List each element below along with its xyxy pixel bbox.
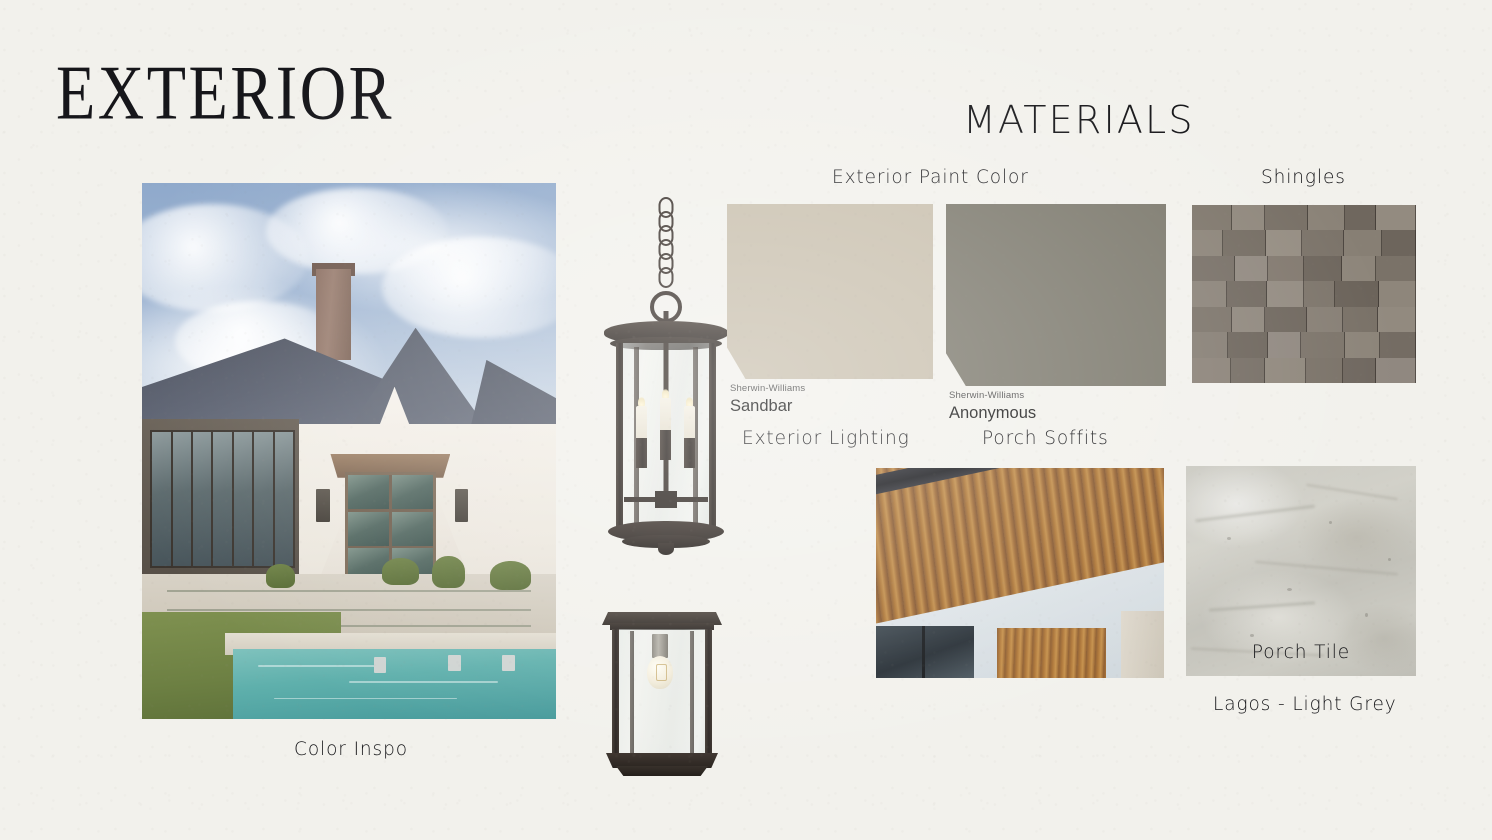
caption-porch-tile: Porch Tile bbox=[1186, 642, 1416, 663]
page-title-exterior: EXTERIOR bbox=[56, 55, 394, 132]
sconce-frame-post bbox=[705, 629, 712, 755]
chain-link bbox=[659, 267, 674, 288]
color-inspo-photo bbox=[142, 183, 556, 719]
shingle-row bbox=[1192, 307, 1416, 332]
window-mullion bbox=[922, 626, 925, 679]
shingle-row bbox=[1192, 358, 1416, 383]
pool-shimmer bbox=[349, 681, 498, 683]
patio-joint bbox=[167, 609, 531, 610]
frame-post bbox=[616, 343, 623, 527]
swatch-name-anonymous: Anonymous bbox=[949, 404, 1036, 423]
window-band-left bbox=[150, 430, 295, 568]
swatch-brand-sandbar: Sherwin-Williams bbox=[730, 383, 805, 394]
shrub bbox=[432, 556, 465, 588]
candle-bulb bbox=[636, 406, 647, 440]
wall-sconce-image bbox=[600, 598, 724, 788]
caption-color-inspo: Color Inspo bbox=[294, 741, 408, 760]
tile-speck bbox=[1329, 521, 1332, 524]
frame-post bbox=[709, 343, 716, 527]
candle-bulb bbox=[684, 406, 695, 440]
paint-swatch-anonymous bbox=[946, 204, 1166, 386]
shrub bbox=[382, 558, 419, 585]
shingle-row bbox=[1192, 332, 1416, 358]
candle-socket bbox=[660, 430, 671, 460]
chimney bbox=[316, 269, 351, 360]
candle-socket bbox=[684, 438, 695, 468]
candle-socket bbox=[636, 438, 647, 468]
pool-lounger bbox=[502, 655, 514, 671]
section-title-materials: MATERIALS bbox=[963, 101, 1195, 139]
pool-lounger bbox=[374, 657, 386, 673]
porch-tile-swatch: Porch Tile bbox=[1186, 466, 1416, 676]
tile-speck bbox=[1287, 588, 1292, 591]
candle-bulb bbox=[660, 398, 671, 432]
swatch-name-sandbar: Sandbar bbox=[730, 397, 792, 416]
swatch-brand-anonymous: Sherwin-Williams bbox=[949, 390, 1024, 401]
sconce-bottom-cap bbox=[606, 753, 718, 768]
sconce-frame-post-inner bbox=[690, 631, 694, 753]
sconce-frame-post-inner bbox=[630, 631, 634, 753]
wood-soffit-return bbox=[997, 628, 1106, 678]
bulb-filament bbox=[656, 664, 667, 681]
exterior-sconce bbox=[455, 489, 469, 522]
caption-porch-soffits: Porch Soffits bbox=[982, 430, 1109, 449]
shingle-row bbox=[1192, 281, 1416, 307]
shingles-swatch bbox=[1192, 205, 1416, 383]
center-hub bbox=[655, 491, 677, 508]
patio-joint bbox=[167, 590, 531, 591]
caption-exterior-lighting: Exterior Lighting bbox=[742, 430, 910, 449]
sconce-frame-post bbox=[612, 629, 619, 755]
sconce-foot bbox=[616, 766, 708, 776]
caption-exterior-paint-color: Exterior Paint Color bbox=[832, 169, 1029, 188]
pool-lounger bbox=[448, 655, 460, 671]
porch-soffits-photo bbox=[876, 468, 1164, 678]
caption-shingles: Shingles bbox=[1261, 169, 1346, 188]
stucco-pillar bbox=[1121, 611, 1164, 678]
paint-swatch-sandbar bbox=[727, 204, 933, 379]
shingle-row bbox=[1192, 230, 1416, 256]
bulb-socket bbox=[652, 634, 668, 658]
shrub bbox=[266, 564, 295, 588]
mood-board: EXTERIOR MATERIALS bbox=[0, 0, 1492, 840]
shrub bbox=[490, 561, 531, 590]
exterior-sconce bbox=[316, 489, 330, 522]
pendant-lantern-image bbox=[598, 197, 734, 557]
shingle-row bbox=[1192, 205, 1416, 230]
pool-shimmer bbox=[274, 698, 456, 700]
finial bbox=[658, 543, 674, 555]
pool-shimmer bbox=[258, 665, 382, 667]
shingle-row bbox=[1192, 256, 1416, 281]
porch-tile-product-name: Lagos - Light Grey bbox=[1213, 696, 1397, 715]
